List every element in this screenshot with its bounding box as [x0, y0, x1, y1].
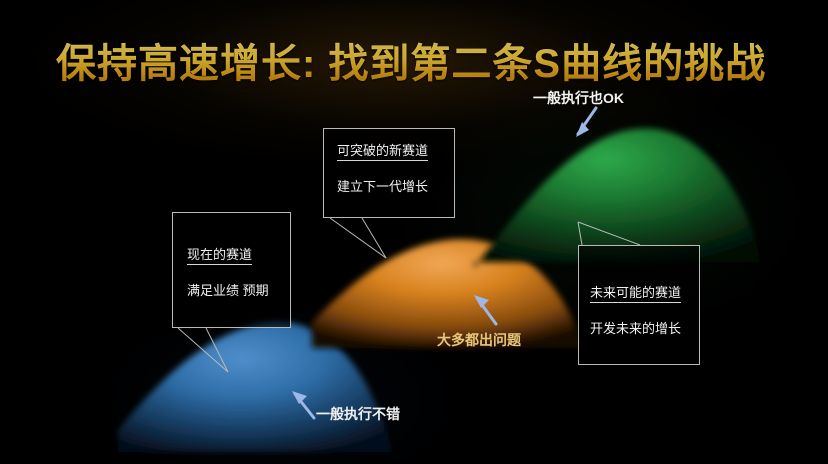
callout-future-subtext: 开发未来的增长: [590, 320, 681, 337]
callout-future-heading: 未来可能的赛道: [590, 284, 681, 303]
callout-new-heading: 可突破的新赛道: [337, 142, 428, 161]
callout-new-track[interactable]: 可突破的新赛道 建立下一代增长: [323, 128, 455, 218]
note-blue-hill: 一般执行不错: [316, 405, 400, 423]
callout-new-subtext: 建立下一代增长: [337, 178, 428, 195]
slide-canvas: 保持高速增长: 找到第二条S曲线的挑战: [0, 0, 828, 464]
note-orange-hill: 大多都出问题: [437, 331, 521, 349]
page-title: 保持高速增长: 找到第二条S曲线的挑战: [56, 40, 766, 88]
callout-current-heading: 现在的赛道: [187, 246, 252, 265]
note-green-hill: 一般执行也OK: [533, 89, 624, 107]
callout-future-track[interactable]: 未来可能的赛道 开发未来的增长: [578, 245, 700, 365]
callout-current-subtext: 满足业绩 预期: [187, 282, 269, 299]
callout-current-track[interactable]: 现在的赛道 满足业绩 预期: [172, 212, 291, 328]
